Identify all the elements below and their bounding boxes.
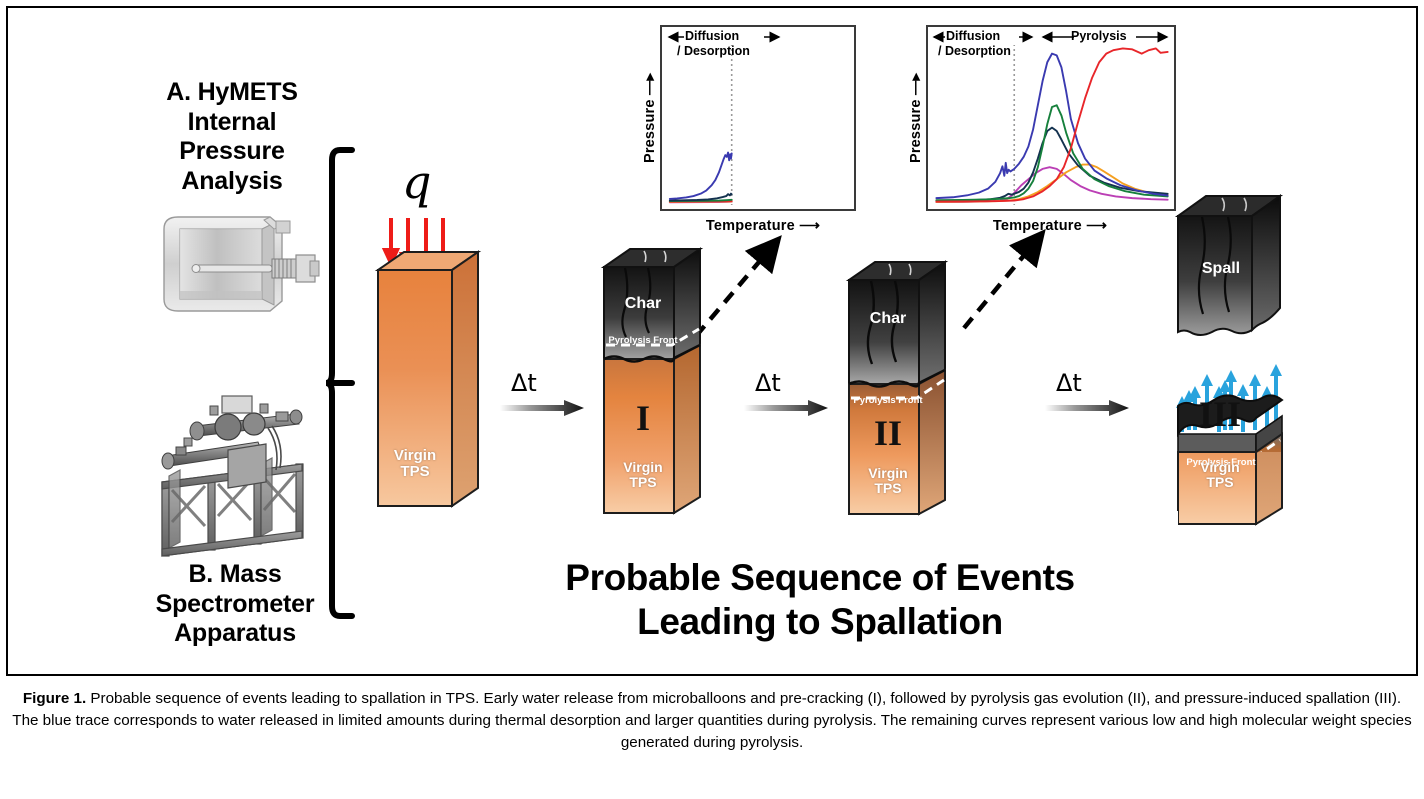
time-arrow-3-icon (1045, 398, 1131, 418)
panel-a-label-line3: Pressure (126, 137, 338, 167)
block-stage-1-virgin-label: Virgin TPS (608, 460, 678, 490)
grouping-bracket (326, 146, 362, 620)
mass-spectrometer-apparatus-photo (150, 390, 328, 570)
pointer-arrow-stage1-to-plot1 (690, 232, 810, 342)
block-stage-2-char-label: Char (853, 310, 923, 328)
plot-desorption-y-axis-label: Pressure —▸ (642, 58, 658, 178)
time-arrow-1-label: Δt (511, 369, 537, 397)
panel-b-label-line2: Spectrometer (110, 590, 360, 620)
plot-desorption-diffusion-label-line1: Diffusion (685, 29, 739, 43)
series-water (670, 153, 732, 199)
panel-a-hymets: A. HyMETS Internal Pressure Analysis (126, 78, 338, 196)
series-high-mw-species (936, 105, 1167, 200)
panel-a-label: A. HyMETS Internal Pressure Analysis (126, 78, 338, 196)
block-stage-1-char-label: Char (608, 295, 678, 313)
plot-pyrolysis-y-axis-label: Pressure —▸ (908, 58, 924, 178)
panel-a-label-line4: Analysis (126, 167, 338, 197)
figure-caption: Figure 1. Probable sequence of events le… (8, 688, 1416, 754)
figure-caption-label: Figure 1. (23, 690, 86, 707)
up-arrow-icon: —▸ (908, 73, 924, 99)
block-stage-3-spall-label: Spall (1186, 260, 1256, 278)
block-stage-3-virgin-label: Virgin TPS (1182, 460, 1258, 490)
block-stage-3-roman: III (1182, 393, 1258, 435)
up-arrow-icon: —▸ (642, 73, 658, 99)
block-stage-2-roman: II (853, 412, 923, 454)
plot-desorption-y-axis-text: Pressure (642, 99, 658, 163)
plot-pyrolysis-diffusion-label-line1: Diffusion (946, 29, 1000, 43)
panel-a-label-line1: A. HyMETS (126, 78, 338, 108)
main-title-line1: Probable Sequence of Events (520, 556, 1120, 600)
plot-pyrolysis-pyrolysis-label: Pyrolysis (1071, 29, 1127, 43)
time-arrow-2-icon (744, 398, 830, 418)
block-stage-2-pyrolysis-front-label: Pyrolysis Front (846, 395, 930, 406)
figure-caption-text: Probable sequence of events leading to s… (12, 690, 1411, 751)
block-stage-1-pyrolysis-front-label: Pyrolysis Front (601, 335, 685, 346)
block-virgin-tps-label: Virgin TPS (378, 448, 452, 480)
plot-pyrolysis-y-axis-text: Pressure (908, 99, 924, 163)
main-title-line2: Leading to Spallation (520, 600, 1120, 644)
heat-flux-symbol: q (402, 155, 431, 209)
plot-pyrolysis-desorption-label-line2: / Desorption (938, 44, 1011, 58)
series-water (936, 54, 1167, 198)
time-arrow-1-icon (500, 398, 586, 418)
panel-b-label-line3: Apparatus (110, 619, 360, 649)
main-title: Probable Sequence of Events Leading to S… (520, 556, 1120, 643)
right-arrow-icon: ⟶ (1082, 218, 1107, 234)
hymets-internal-pressure-model-diagram (150, 205, 322, 315)
block-stage-1-roman: I (608, 397, 678, 439)
panel-b-label: B. Mass Spectrometer Apparatus (110, 560, 360, 649)
pointer-arrow-stage2-to-plot2 (958, 222, 1078, 334)
series-char-co2-species (936, 48, 1167, 201)
panel-b-label-line1: B. Mass (110, 560, 360, 590)
plot-desorption-desorption-label-line2: / Desorption (677, 44, 750, 58)
block-stage-2-virgin-label: Virgin TPS (853, 466, 923, 496)
time-arrow-2-label: Δt (755, 369, 781, 397)
time-arrow-3-label: Δt (1056, 369, 1082, 397)
panel-a-label-line2: Internal (126, 108, 338, 138)
